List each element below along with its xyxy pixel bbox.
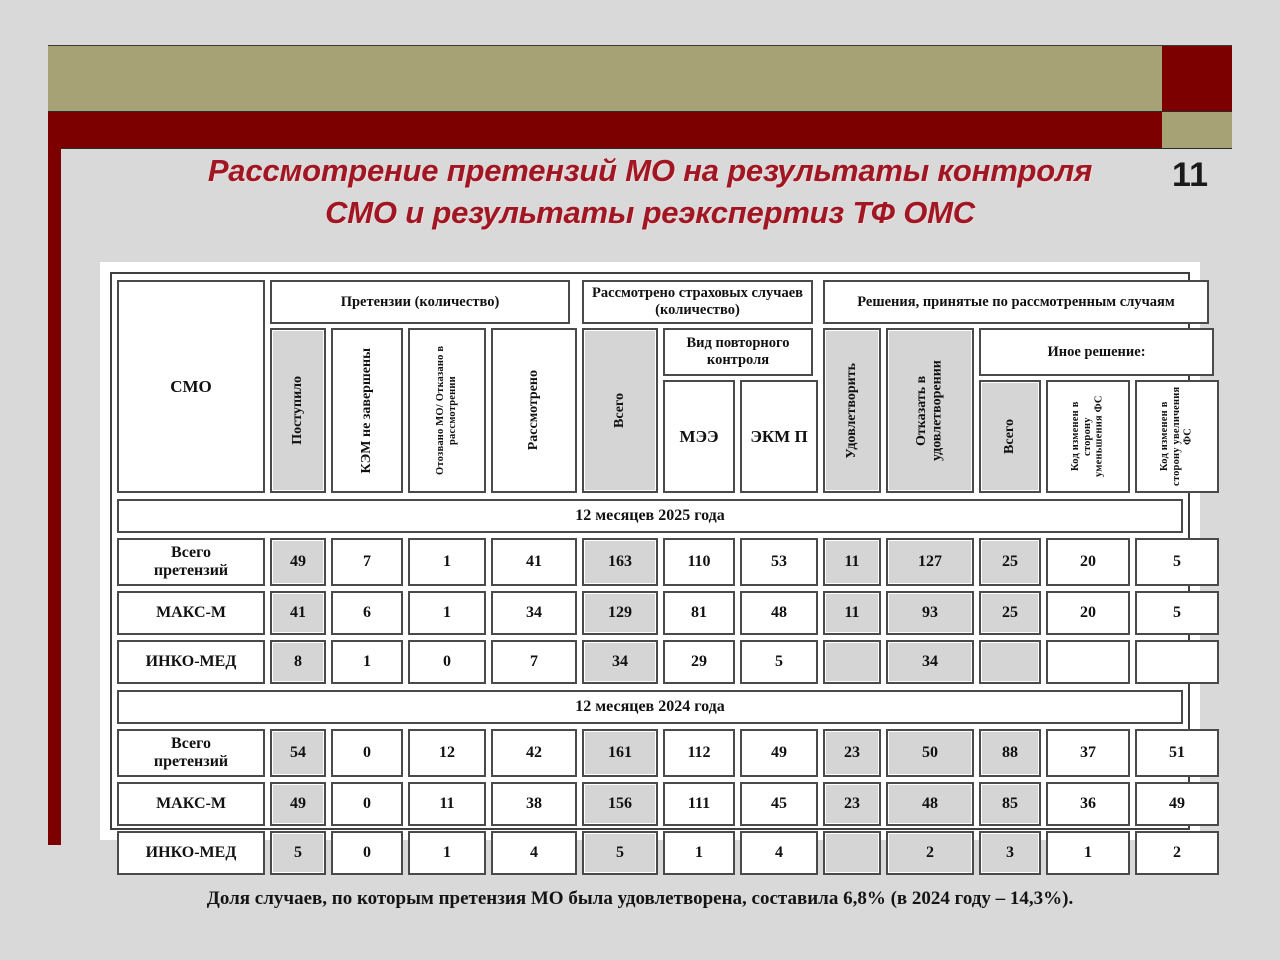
cell-otozvano-otkazano: 12 [408,729,486,777]
cell-kod-uvelichenie: 5 [1135,538,1219,586]
cell-ekmp: 48 [740,591,818,635]
header-col-postupilo: Поступило [270,328,326,493]
cell-otozvano-otkazano: 11 [408,782,486,826]
cell-udovletvorit: 23 [823,729,881,777]
cell-kod-umenshenie: 20 [1046,591,1130,635]
cell-otkazat-v-udovletvorenii: 93 [886,591,974,635]
cell-mee: 81 [663,591,735,635]
page-title: Рассмотрение претензий МО на результаты … [120,150,1180,234]
cell-udovletvorit: 23 [823,782,881,826]
table-row: ИНКО-МЕД50145142312 [117,831,1183,875]
cell-vsego-cases: 34 [582,640,658,684]
cell-vsego-other: 3 [979,831,1041,875]
header-col-otkazat-v-udovletvorenii: Отказать в удовлетворении [886,328,974,493]
cell-postupilo: 49 [270,538,326,586]
row-label-smo: МАКС-М [117,591,265,635]
cell-udovletvorit: 11 [823,591,881,635]
cell-otkazat-v-udovletvorenii: 34 [886,640,974,684]
cell-kod-uvelichenie: 2 [1135,831,1219,875]
header-subgroup-control-type: Вид повторного контроля МЭЭ ЭКМ П [663,328,818,493]
header-claims-title: Претензии (количество) [270,280,570,324]
deco-bar-top [48,45,1232,112]
cell-vsego-other: 85 [979,782,1041,826]
cell-mee: 29 [663,640,735,684]
section-label-row: 12 месяцев 2024 года [117,690,1183,724]
cell-ekmp: 5 [740,640,818,684]
cell-mee: 111 [663,782,735,826]
header-col-udovletvorit: Удовлетворить [823,328,881,493]
header-col-otozvano-otkazano: Отозвано МО/ Отказано в рассмотрении [408,328,486,493]
left-accent-rule [48,115,61,845]
table-row: МАКС-М4161341298148119325205 [117,591,1183,635]
row-label-smo: ИНКО-МЕД [117,640,265,684]
header-col-rassmotreno: Рассмотрено [491,328,577,493]
cell-ekmp: 53 [740,538,818,586]
cell-kem-ne-zaversheny: 7 [331,538,403,586]
table-row: ИНКО-МЕД81073429534 [117,640,1183,684]
header-decisions-title: Решения, принятые по рассмотренным случа… [823,280,1209,324]
row-label-smo: Всегопретензий [117,538,265,586]
row-label-smo: МАКС-М [117,782,265,826]
deco-red-strip [48,112,1162,148]
cell-udovletvorit: 11 [823,538,881,586]
cell-vsego-cases: 156 [582,782,658,826]
cell-kod-umenshenie: 36 [1046,782,1130,826]
header-col-kod-izmenen-umenshenie: Код изменен в сторону уменьшения ФС [1046,380,1130,493]
page-title-line2: СМО и результаты реэкспертиз ТФ ОМС [120,192,1180,234]
cell-ekmp: 49 [740,729,818,777]
cell-vsego-cases: 129 [582,591,658,635]
cell-ekmp: 45 [740,782,818,826]
cell-vsego-cases: 5 [582,831,658,875]
cell-vsego-other: 88 [979,729,1041,777]
cell-kem-ne-zaversheny: 0 [331,729,403,777]
title-area: Рассмотрение претензий МО на результаты … [70,150,1220,250]
cell-otkazat-v-udovletvorenii: 48 [886,782,974,826]
cell-kod-uvelichenie: 5 [1135,591,1219,635]
table-header: СМО Претензии (количество) Поступило КЭМ… [117,280,1183,493]
cell-kod-uvelichenie: 49 [1135,782,1219,826]
table-frame: СМО Претензии (количество) Поступило КЭМ… [110,272,1190,830]
cell-otozvano-otkazano: 1 [408,591,486,635]
cell-rassmotreno: 38 [491,782,577,826]
cell-rassmotreno: 34 [491,591,577,635]
header-decoration [48,45,1232,115]
cell-mee: 112 [663,729,735,777]
header-smo: СМО [117,280,265,493]
row-label-smo: ИНКО-МЕД [117,831,265,875]
cell-kod-umenshenie: 20 [1046,538,1130,586]
deco-bar-bottom [48,111,1232,149]
cell-kod-umenshenie: 1 [1046,831,1130,875]
table-row: Всегопретензий5401242161112492350883751 [117,729,1183,777]
page-title-line1: Рассмотрение претензий МО на результаты … [120,150,1180,192]
cell-kod-uvelichenie: 51 [1135,729,1219,777]
header-col-kem-ne-zaversheny: КЭМ не завершены [331,328,403,493]
cell-mee: 1 [663,831,735,875]
cell-postupilo: 54 [270,729,326,777]
cell-vsego-cases: 163 [582,538,658,586]
header-other-decision-title: Иное решение: [979,328,1214,376]
cell-kem-ne-zaversheny: 0 [331,782,403,826]
cell-ekmp: 4 [740,831,818,875]
cell-otozvano-otkazano: 1 [408,538,486,586]
cell-kem-ne-zaversheny: 0 [331,831,403,875]
cell-vsego-cases: 161 [582,729,658,777]
table-row: МАКС-М4901138156111452348853649 [117,782,1183,826]
table-row: Всегопретензий497141163110531112725205 [117,538,1183,586]
header-reviewed-cases-title: Рассмотрено страховых случаев (количеств… [582,280,813,324]
cell-rassmotreno: 7 [491,640,577,684]
cell-otozvano-otkazano: 0 [408,640,486,684]
header-col-ekmp: ЭКМ П [740,380,818,493]
cell-kod-uvelichenie [1135,640,1219,684]
header-group-claims: Претензии (количество) Поступило КЭМ не … [270,280,577,493]
table-panel: СМО Претензии (количество) Поступило КЭМ… [100,262,1200,840]
cell-otkazat-v-udovletvorenii: 2 [886,831,974,875]
cell-otkazat-v-udovletvorenii: 50 [886,729,974,777]
cell-otkazat-v-udovletvorenii: 127 [886,538,974,586]
header-col-vsego-other: Всего [979,380,1041,493]
cell-vsego-other: 25 [979,591,1041,635]
header-subgroup-other-decision: Иное решение: Всего Код изменен в сторон… [979,328,1219,493]
cell-kod-umenshenie: 37 [1046,729,1130,777]
cell-kem-ne-zaversheny: 1 [331,640,403,684]
cell-kem-ne-zaversheny: 6 [331,591,403,635]
cell-postupilo: 5 [270,831,326,875]
cell-rassmotreno: 41 [491,538,577,586]
cell-rassmotreno: 4 [491,831,577,875]
cell-udovletvorit [823,640,881,684]
cell-kod-umenshenie [1046,640,1130,684]
header-control-type-title: Вид повторного контроля [663,328,813,376]
header-col-kod-izmenen-uvelichenie: Код изменен в сторону увеличения ФС [1135,380,1219,493]
row-label-smo: Всегопретензий [117,729,265,777]
deco-olive-strip [1162,112,1232,148]
cell-postupilo: 41 [270,591,326,635]
header-col-mee: МЭЭ [663,380,735,493]
slide-number: 11 [1172,156,1208,195]
cell-vsego-other: 25 [979,538,1041,586]
cell-mee: 110 [663,538,735,586]
cell-otozvano-otkazano: 1 [408,831,486,875]
header-group-reviewed-cases: Рассмотрено страховых случаев (количеств… [582,280,818,493]
cell-rassmotreno: 42 [491,729,577,777]
deco-olive-block [48,46,1162,112]
cell-postupilo: 8 [270,640,326,684]
cell-vsego-other [979,640,1041,684]
section-label-row: 12 месяцев 2025 года [117,499,1183,533]
header-group-decisions: Решения, принятые по рассмотренным случа… [823,280,1219,493]
deco-red-block [1162,46,1232,112]
cell-udovletvorit [823,831,881,875]
table-body: 12 месяцев 2025 годаВсегопретензий497141… [117,499,1183,875]
cell-postupilo: 49 [270,782,326,826]
header-col-vsego-cases: Всего [582,328,658,493]
footnote: Доля случаев, по которым претензия МО бы… [60,888,1220,910]
